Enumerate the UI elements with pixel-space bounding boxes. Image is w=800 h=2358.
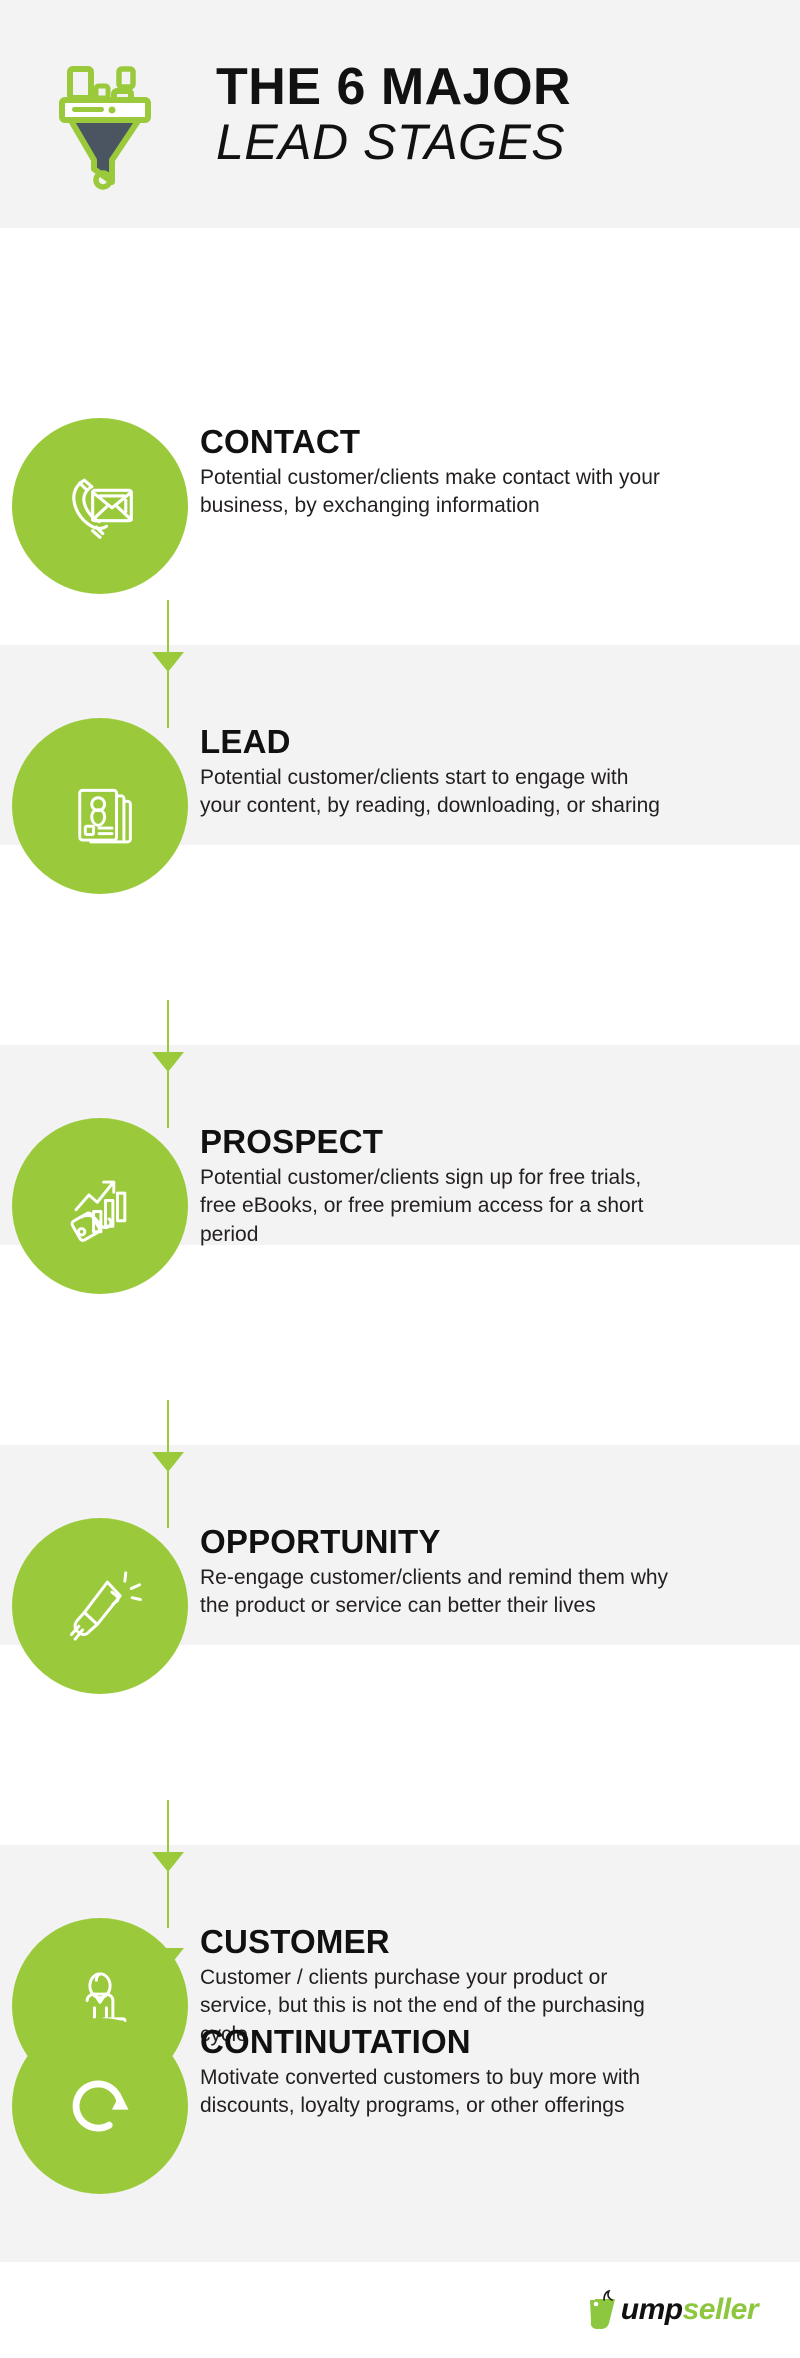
connector-arrow-2 [152,1052,184,1072]
stage-text-opportunity: OPPORTUNITY Re-engage customer/clients a… [200,1518,720,1621]
page-title-line2: LEAD STAGES [216,116,571,169]
stage-text-continutation: CONTINUTATION Motivate converted custome… [200,2018,720,2121]
stage-icon-wrap-lead [0,718,200,894]
infographic-page: THE 6 MAJOR LEAD STAGES [0,0,800,2358]
stage-circle-opportunity [12,1518,188,1694]
stage-icon-wrap-prospect [0,1118,200,1294]
stage-text-contact: CONTACT Potential customer/clients make … [200,418,720,521]
footer: ump seller [0,2262,800,2358]
stage-row-continutation[interactable]: CONTINUTATION Motivate converted custome… [0,2018,800,2218]
stage-circle-contact [12,418,188,594]
price-tag-j-icon [587,2290,621,2330]
stage-circle-continutation [12,2018,188,2194]
title-block: THE 6 MAJOR LEAD STAGES [216,61,571,169]
connector-arrow-3 [152,1452,184,1472]
stage-circle-prospect [12,1118,188,1294]
stage-desc-continutation: Motivate converted customers to buy more… [200,2064,670,2120]
stage-desc-prospect: Potential customer/clients sign up for f… [200,1164,670,1248]
id-documents-icon [54,760,146,852]
stage-icon-wrap-continutation [0,2018,200,2194]
stage-title-customer: CUSTOMER [200,1924,720,1960]
stage-text-lead: LEAD Potential customer/clients start to… [200,718,720,821]
logo-text-seller: seller [683,2295,758,2325]
jumpseller-logo[interactable]: ump seller [587,2290,758,2330]
stage-title-lead: LEAD [200,724,720,760]
connector-arrow-1 [152,652,184,672]
logo-text-ump: ump [621,2295,683,2325]
hand-growth-chart-icon [54,1160,146,1252]
stage-title-opportunity: OPPORTUNITY [200,1524,720,1560]
stage-row-lead[interactable]: LEAD Potential customer/clients start to… [0,718,800,918]
stage-title-contact: CONTACT [200,424,720,460]
page-title-line1: THE 6 MAJOR [216,61,571,114]
stage-row-opportunity[interactable]: OPPORTUNITY Re-engage customer/clients a… [0,1518,800,1718]
stage-desc-opportunity: Re-engage customer/clients and remind th… [200,1564,670,1620]
stage-icon-wrap-opportunity [0,1518,200,1694]
circular-arrow-refresh-icon [54,2060,146,2152]
stage-circle-lead [12,718,188,894]
stage-title-prospect: PROSPECT [200,1124,720,1160]
stage-desc-lead: Potential customer/clients start to enga… [200,764,670,820]
stage-icon-wrap-contact [0,418,200,594]
stage-title-continutation: CONTINUTATION [200,2024,720,2060]
stage-text-prospect: PROSPECT Potential customer/clients sign… [200,1118,720,1249]
funnel-icon [48,40,198,190]
stage-desc-contact: Potential customer/clients make contact … [200,464,670,520]
stage-row-prospect[interactable]: PROSPECT Potential customer/clients sign… [0,1118,800,1318]
connector-arrow-4 [152,1852,184,1872]
stage-row-contact[interactable]: CONTACT Potential customer/clients make … [0,418,800,618]
header: THE 6 MAJOR LEAD STAGES [0,0,800,228]
megaphone-icon [54,1560,146,1652]
phone-envelope-icon [54,460,146,552]
